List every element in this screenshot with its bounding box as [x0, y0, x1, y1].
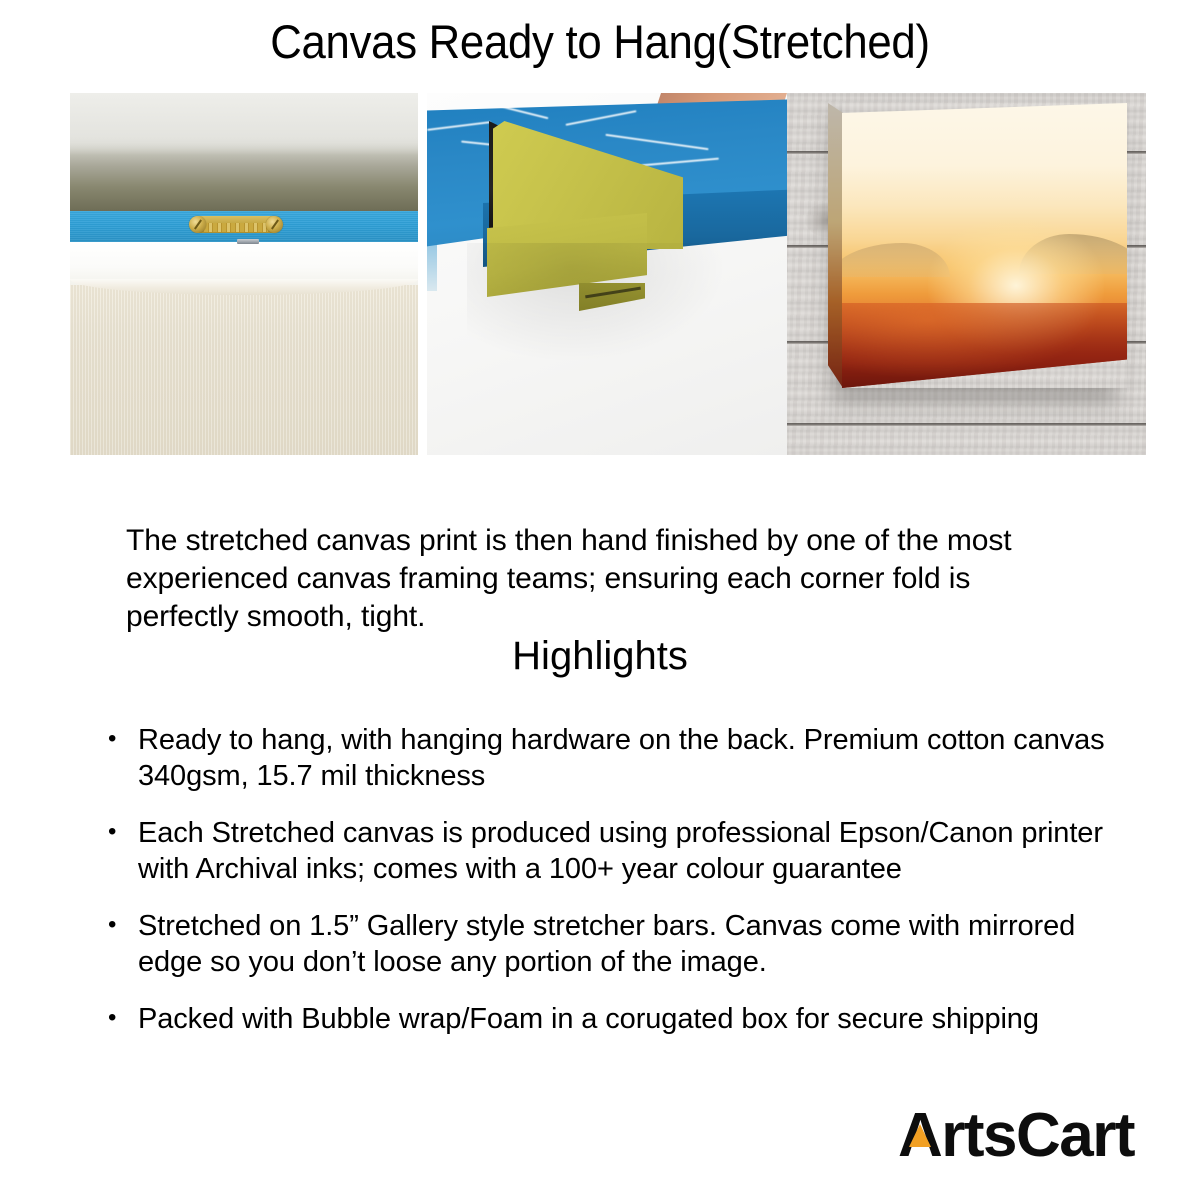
canvas-gallery-wrap-side: [828, 103, 843, 388]
canvas-back-sheen: [70, 93, 418, 155]
intro-paragraph: The stretched canvas print is then hand …: [126, 522, 1066, 636]
list-item: Packed with Bubble wrap/Foam in a coruga…: [104, 1001, 1114, 1037]
cast-shadow: [467, 243, 727, 363]
wall-nail: [237, 239, 259, 244]
highlights-list: Ready to hang, with hanging hardware on …: [104, 722, 1114, 1058]
product-info-graphic: Canvas Ready to Hang(Stretched): [0, 0, 1200, 1200]
hanger-screw-left: [189, 216, 206, 233]
brand-logo-text: ArtsCart: [898, 1104, 1134, 1168]
print-wisp: [565, 110, 636, 126]
print-wisp: [427, 121, 491, 131]
brand-logo: ArtsCart: [898, 1104, 1134, 1168]
print-wisp: [641, 158, 719, 167]
triangle-icon: [909, 1124, 931, 1147]
print-wisp: [605, 134, 708, 150]
mounted-canvas: [842, 103, 1127, 388]
landscape-foreground: [842, 303, 1127, 389]
corner-fold-photo: [427, 93, 787, 455]
list-item: Ready to hang, with hanging hardware on …: [104, 722, 1114, 794]
hanging-hardware-photo: [70, 93, 418, 455]
canvas-raw-back: [70, 285, 418, 455]
list-item: Each Stretched canvas is produced using …: [104, 815, 1114, 887]
page-title: Canvas Ready to Hang(Stretched): [42, 14, 1158, 70]
hanger-screw-right: [266, 216, 283, 233]
product-photo-strip: [70, 93, 1146, 455]
wall-mounted-canvas-photo: [787, 93, 1146, 455]
highlights-heading: Highlights: [0, 632, 1200, 680]
plank-seam: [787, 423, 1146, 426]
canvas-print-face: [842, 103, 1127, 388]
sawtooth-hanger-icon: [188, 214, 284, 236]
list-item: Stretched on 1.5” Gallery style stretche…: [104, 908, 1114, 980]
hanger-teeth: [204, 223, 268, 232]
